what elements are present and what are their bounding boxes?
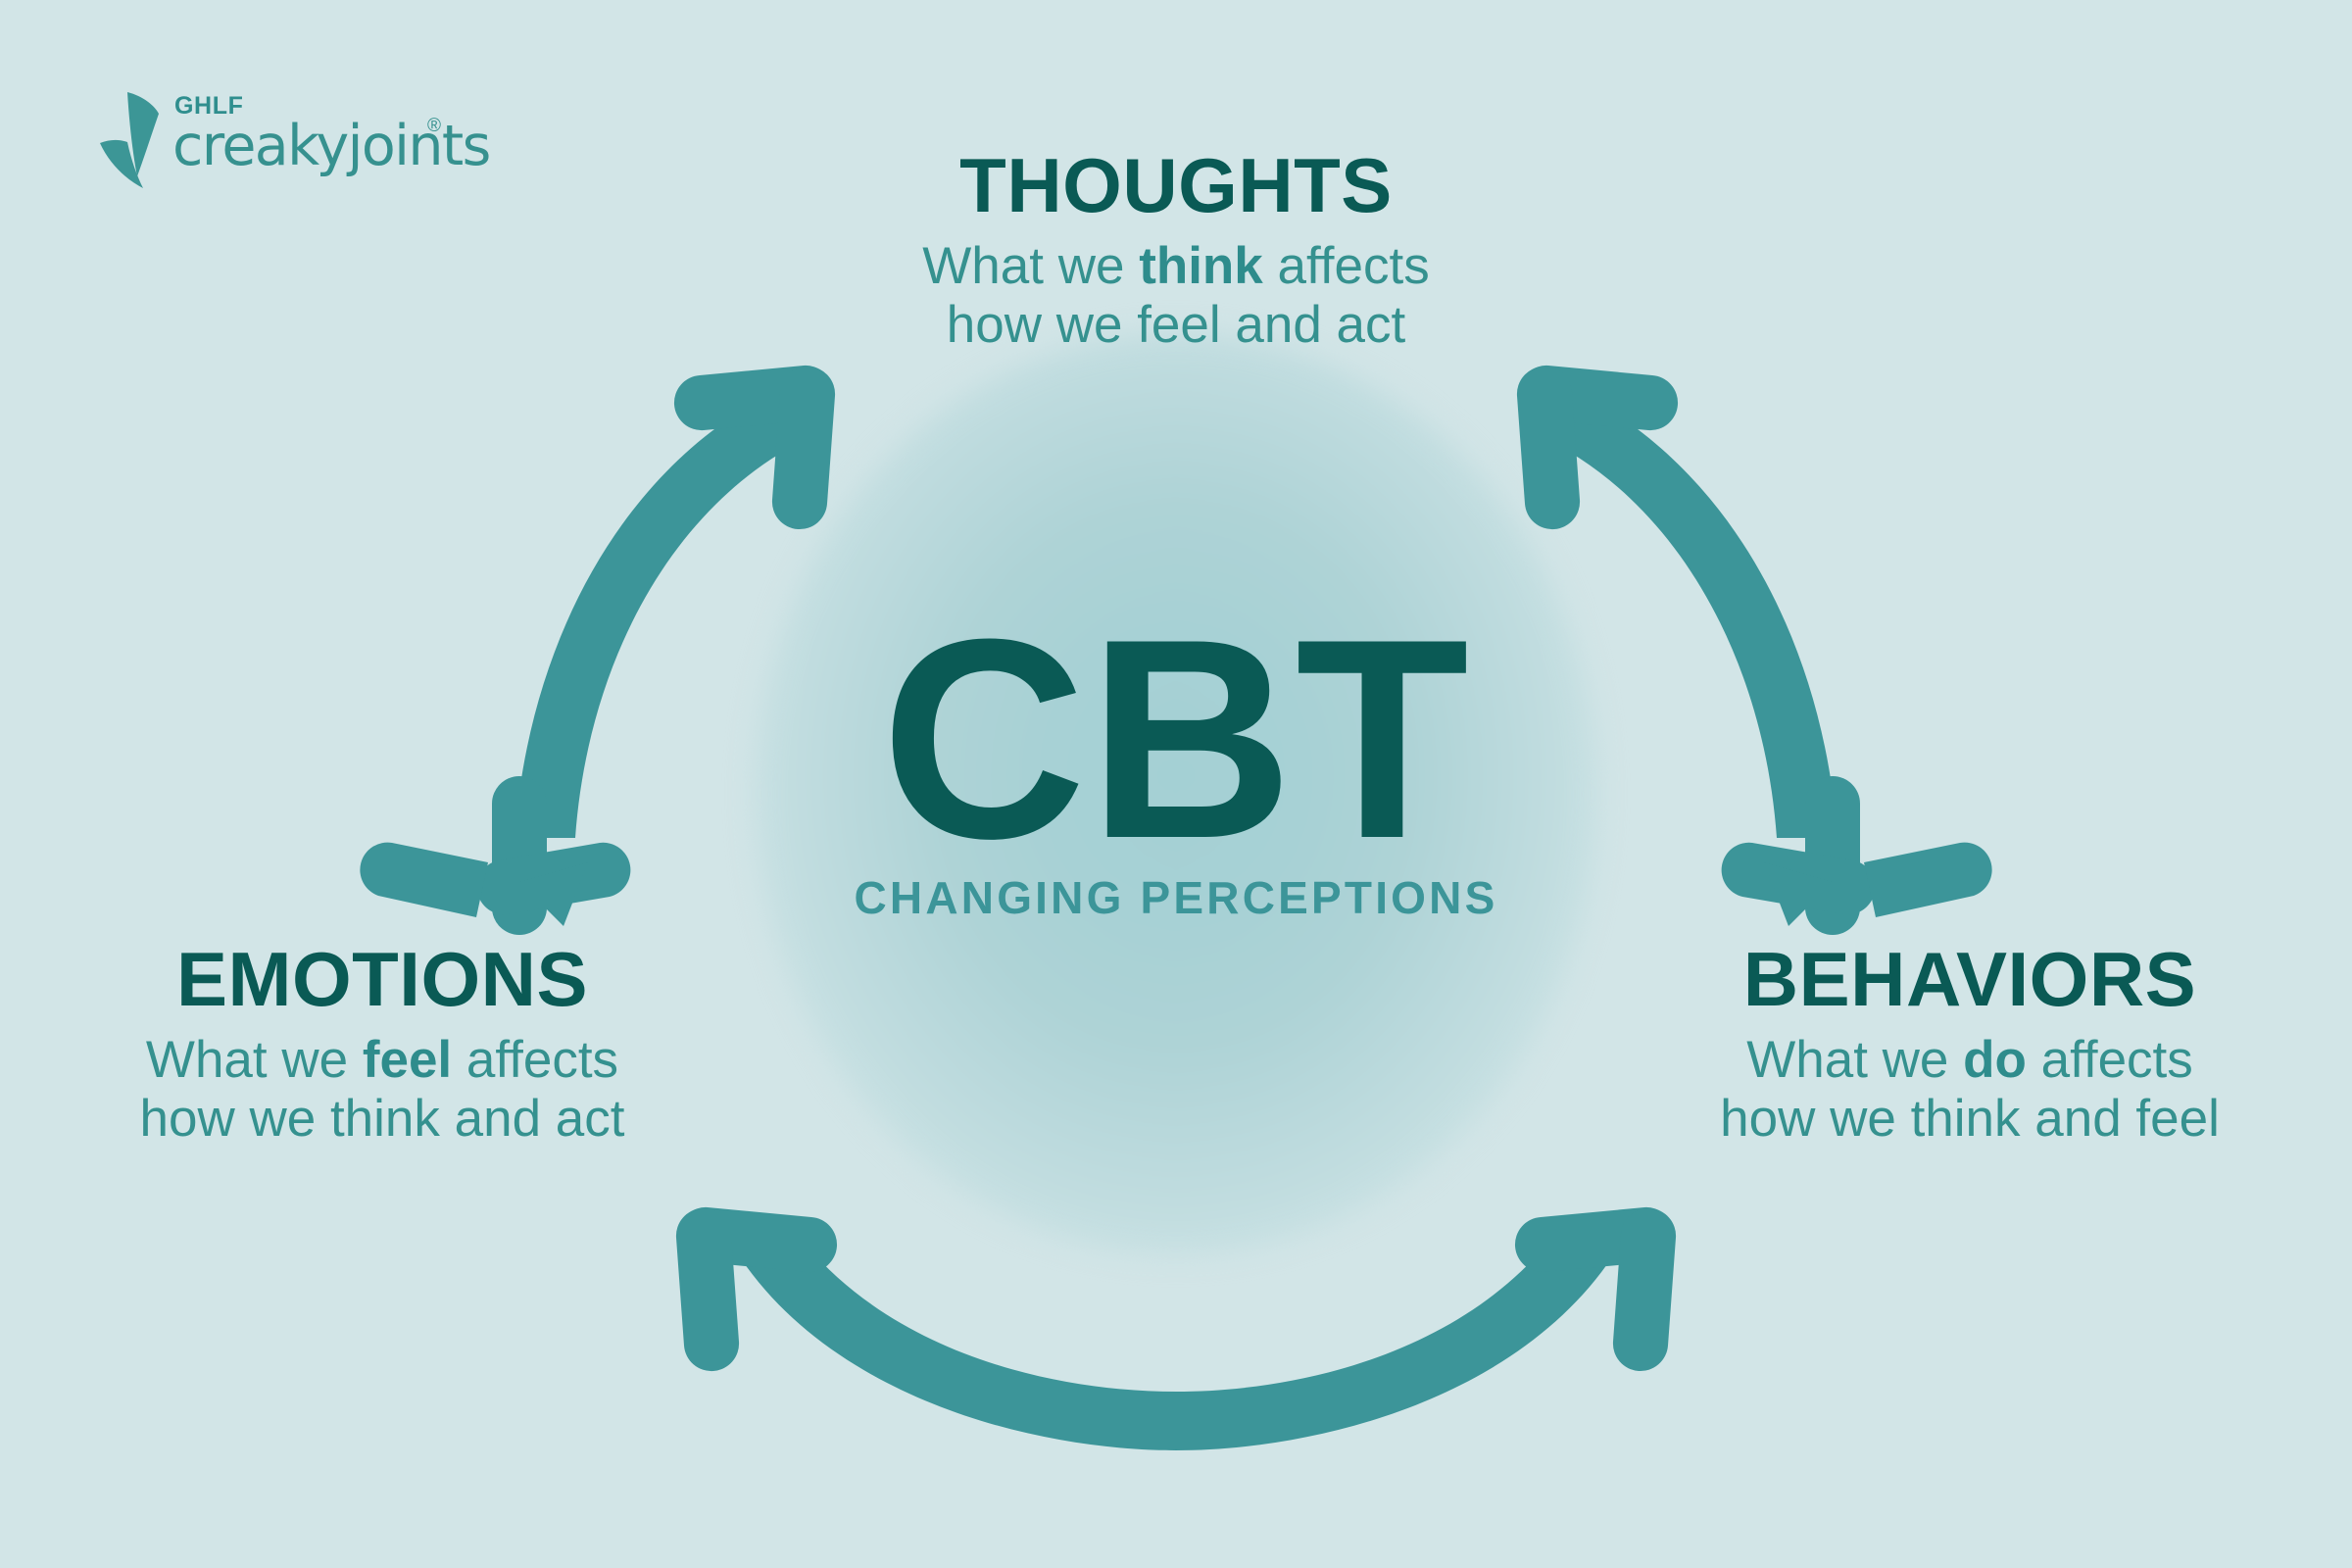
node-thoughts-title: THOUGHTS	[686, 147, 1666, 223]
node-emotions: EMOTIONS What we feel affects how we thi…	[59, 941, 706, 1150]
thoughts-desc-post: affects	[1263, 237, 1430, 295]
creakyjoints-logo[interactable]: GHLF creakyjoints ®	[98, 86, 451, 192]
thoughts-desc-pre: What we	[922, 237, 1139, 295]
creakyjoints-swoosh-icon	[98, 86, 171, 192]
node-emotions-description: What we feel affects how we think and ac…	[59, 1031, 706, 1150]
node-thoughts: THOUGHTS What we think affects how we fe…	[686, 147, 1666, 356]
behaviors-desc-keyword: do	[1963, 1031, 2027, 1089]
double-arrow-bottom	[676, 1207, 1676, 1450]
thoughts-desc-keyword: think	[1139, 237, 1263, 295]
node-behaviors-title: BEHAVIORS	[1646, 941, 2293, 1017]
cbt-tagline: CHANGING PERCEPTIONS	[686, 871, 1666, 924]
behaviors-desc-post: affects	[2027, 1031, 2193, 1089]
node-emotions-title: EMOTIONS	[59, 941, 706, 1017]
emotions-desc-post: affects	[452, 1031, 618, 1089]
emotions-desc-keyword: feel	[363, 1031, 452, 1089]
center-block: CBT CHANGING PERCEPTIONS	[686, 617, 1666, 924]
node-behaviors: BEHAVIORS What we do affects how we thin…	[1646, 941, 2293, 1150]
behaviors-desc-line2: how we think and feel	[1646, 1090, 2293, 1149]
cbt-acronym: CBT	[686, 617, 1666, 861]
emotions-desc-line2: how we think and act	[59, 1090, 706, 1149]
logo-registered-mark: ®	[427, 116, 441, 137]
node-thoughts-description: What we think affects how we feel and ac…	[686, 237, 1666, 356]
emotions-desc-pre: What we	[146, 1031, 363, 1089]
behaviors-desc-pre: What we	[1746, 1031, 1963, 1089]
node-behaviors-description: What we do affects how we think and feel	[1646, 1031, 2293, 1150]
logo-creakyjoints-text: creakyjoints	[172, 114, 490, 178]
cbt-infographic: GHLF creakyjoints ®	[0, 0, 2352, 1568]
thoughts-desc-line2: how we feel and act	[686, 296, 1666, 355]
